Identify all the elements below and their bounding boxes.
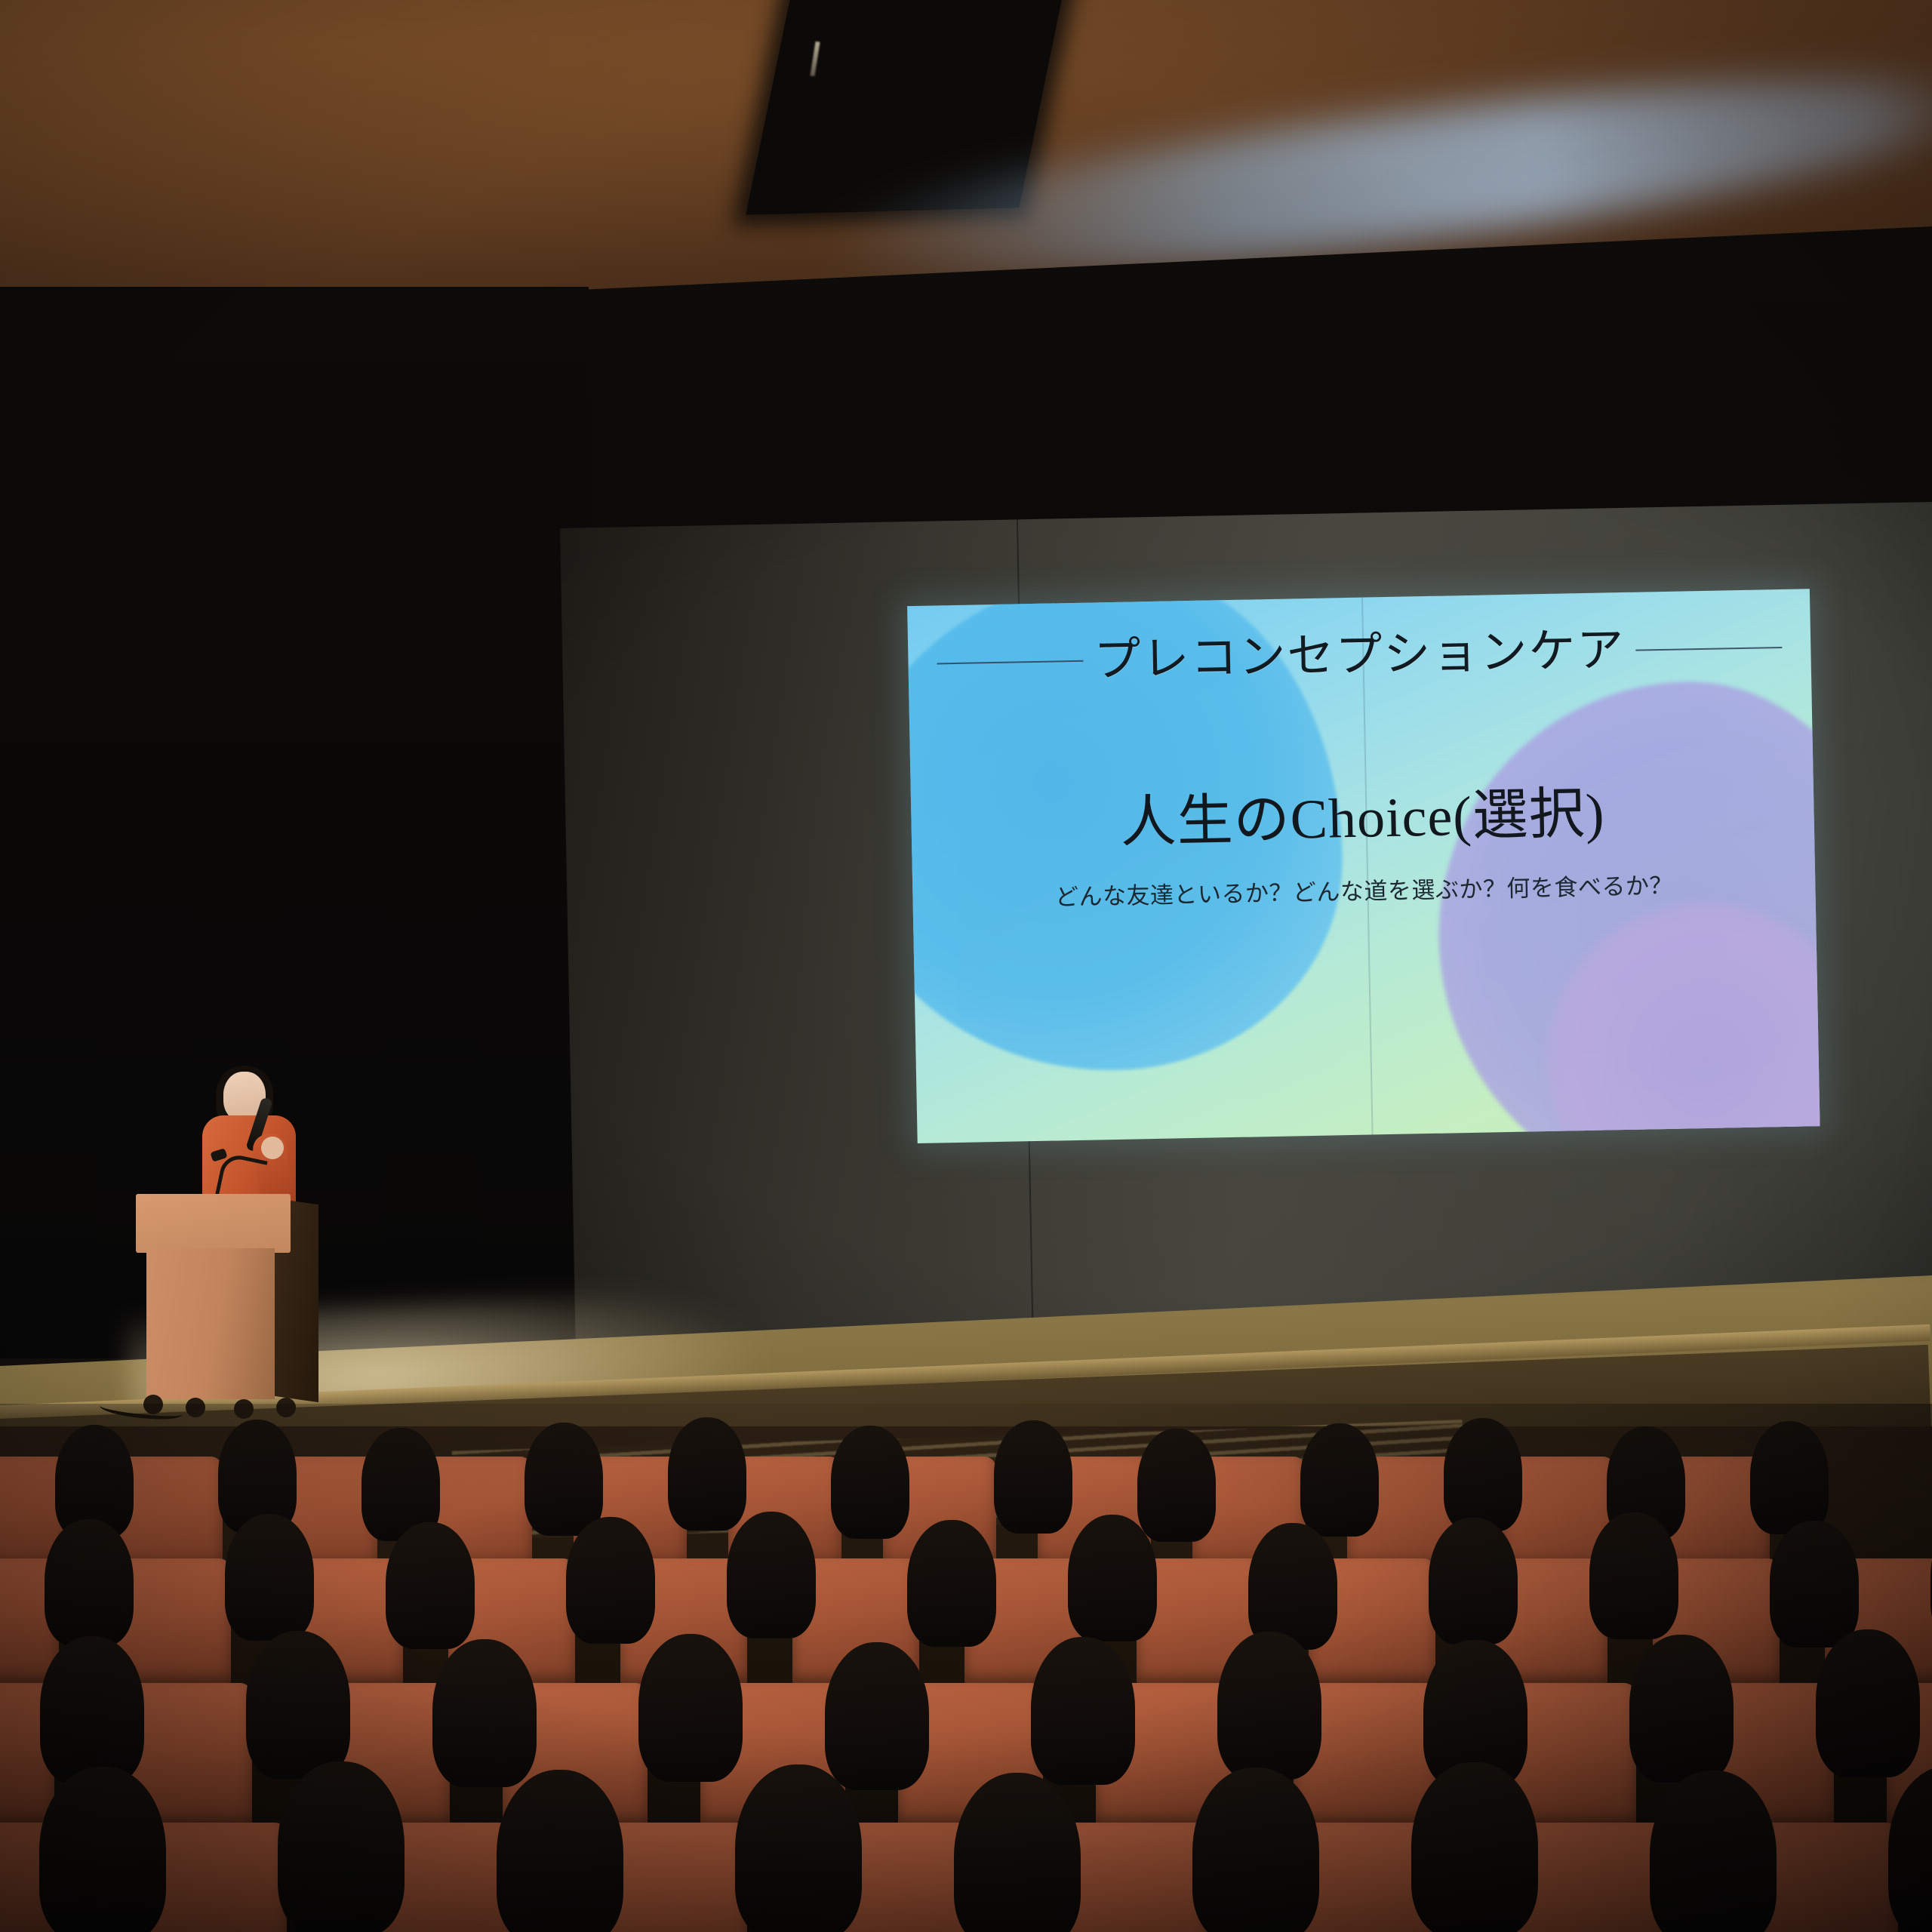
- audience-attendee: [1217, 1632, 1321, 1780]
- audience-attendee: [1137, 1429, 1216, 1542]
- audience-attendee: [954, 1773, 1081, 1932]
- audience-attendee: [1411, 1762, 1538, 1932]
- podium-top: [136, 1194, 291, 1253]
- audience-attendee: [1816, 1629, 1920, 1777]
- audience-attendee: [1248, 1523, 1337, 1650]
- audience-attendee: [246, 1631, 350, 1779]
- slide-title-row: プレコンセプションケア: [908, 623, 1811, 688]
- audience-attendee: [39, 1767, 166, 1932]
- projected-slide: プレコンセプションケア 人生のChoice(選択) どんな友達といるか？どんな道…: [907, 589, 1820, 1143]
- slide-title: プレコンセプションケア: [1094, 627, 1626, 685]
- audience-attendee: [432, 1639, 537, 1787]
- podium: [136, 1087, 332, 1389]
- audience-attendee: [45, 1519, 134, 1646]
- audience-attendee: [1750, 1421, 1829, 1534]
- audience-attendee: [1429, 1518, 1518, 1644]
- audience-attendee: [1031, 1637, 1135, 1785]
- audience-attendee: [727, 1512, 816, 1638]
- gooseneck-microphone-head: [210, 1148, 227, 1162]
- slide-content: プレコンセプションケア 人生のChoice(選択) どんな友達といるか？どんな道…: [907, 589, 1820, 1143]
- audience-attendee: [278, 1761, 405, 1932]
- audience-attendee: [1629, 1635, 1734, 1783]
- title-rule-right: [1635, 647, 1782, 651]
- audience-attendee: [1068, 1515, 1157, 1641]
- audience-attendee: [1192, 1767, 1319, 1932]
- podium-wheel: [234, 1399, 254, 1419]
- audience-attendee: [497, 1770, 623, 1932]
- audience-attendee: [825, 1642, 929, 1790]
- podium-body: [146, 1248, 275, 1399]
- audience-attendee: [638, 1634, 743, 1782]
- slide-headline: 人生のChoice(選択): [911, 782, 1814, 855]
- title-rule-left: [937, 660, 1084, 665]
- audience-attendee: [831, 1426, 909, 1539]
- audience-attendee: [907, 1520, 996, 1647]
- audience-attendee: [525, 1423, 603, 1536]
- audience-attendee: [566, 1517, 655, 1644]
- audience-attendee: [1300, 1423, 1379, 1537]
- audience-attendee: [386, 1522, 475, 1649]
- podium-wheel: [186, 1398, 205, 1417]
- audience-attendee: [994, 1420, 1072, 1534]
- audience-attendee: [1444, 1418, 1522, 1531]
- audience-attendee: [668, 1417, 746, 1531]
- auditorium-presentation-photo: プレコンセプションケア 人生のChoice(選択) どんな友達といるか？どんな道…: [0, 0, 1932, 1932]
- slide-subline: どんな友達といるか？どんな道を選ぶか？何を食べるか？: [912, 871, 1815, 912]
- audience-attendee: [1770, 1521, 1859, 1647]
- audience-attendee: [1650, 1770, 1777, 1932]
- audience-attendee: [225, 1514, 314, 1641]
- audience-attendee: [40, 1636, 144, 1784]
- podium-wheel: [276, 1398, 296, 1417]
- projection-screen-panel: プレコンセプションケア 人生のChoice(選択) どんな友達といるか？どんな道…: [560, 502, 1932, 1351]
- audience-attendee: [735, 1764, 862, 1932]
- audience-attendee: [1589, 1512, 1678, 1639]
